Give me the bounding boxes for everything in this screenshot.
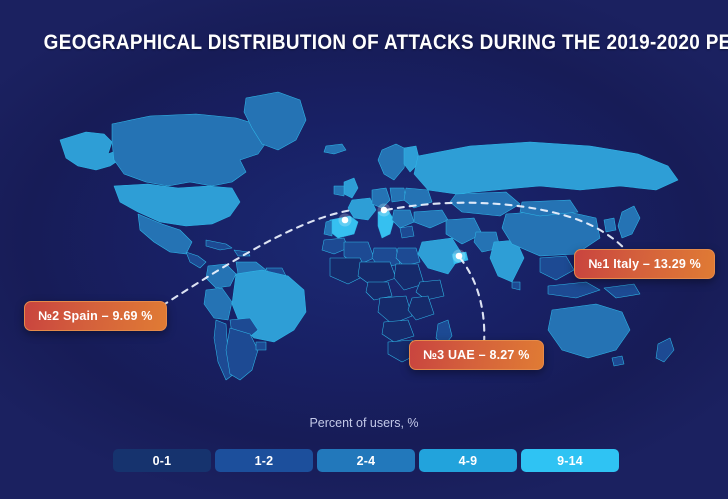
legend-swatch-1-2[interactable]: 1-2 [215,449,313,472]
country-tasmania [612,356,624,366]
country-australia [548,304,630,358]
country-poland [390,188,406,202]
country-colombia [206,264,236,288]
legend-swatch-9-14[interactable]: 9-14 [521,449,619,472]
country-cuba [206,240,232,250]
country-indonesia [548,282,600,298]
country-usa [114,184,240,226]
legend: 0-1 1-2 2-4 4-9 9-14 [113,449,619,472]
country-angola-zambia [382,320,414,342]
country-iceland [324,144,346,154]
country-sri-lanka [512,282,520,290]
callout-badge-italy[interactable]: №1 Italy – 13.29 % [574,249,715,279]
legend-swatch-0-1[interactable]: 0-1 [113,449,211,472]
country-uruguay [256,342,266,350]
legend-swatch-4-9[interactable]: 4-9 [419,449,517,472]
country-balkans [392,210,414,228]
country-southeast-asia [540,256,574,280]
country-japan [618,206,640,238]
marker-italy [378,204,391,217]
callout-badge-spain[interactable]: №2 Spain – 9.69 % [24,301,167,331]
legend-swatch-2-4[interactable]: 2-4 [317,449,415,472]
country-guatemala [186,252,206,268]
map-landmasses [60,92,678,380]
country-ireland [334,186,344,196]
leader-line-uae [460,258,484,344]
country-scandinavia [378,144,408,180]
infographic-canvas: Geographical distribution of attacks dur… [0,0,728,499]
country-peru [204,288,232,320]
country-new-guinea [604,284,640,298]
world-map [0,62,728,392]
country-greece [400,226,414,238]
country-turkey [414,210,448,228]
page-title: Geographical distribution of attacks dur… [44,30,685,55]
country-korea [604,218,616,232]
country-canada [112,114,268,186]
legend-caption: Percent of users, % [0,416,728,430]
callout-badge-uae[interactable]: №3 UAE – 8.27 % [409,340,544,370]
country-uk [344,178,358,198]
marker-uae [453,250,466,263]
country-new-zealand [656,338,674,362]
country-congo [378,296,412,324]
country-russia [414,142,678,194]
country-kenya-tanzania [408,296,434,320]
country-portugal [324,220,332,236]
marker-spain [339,214,352,227]
